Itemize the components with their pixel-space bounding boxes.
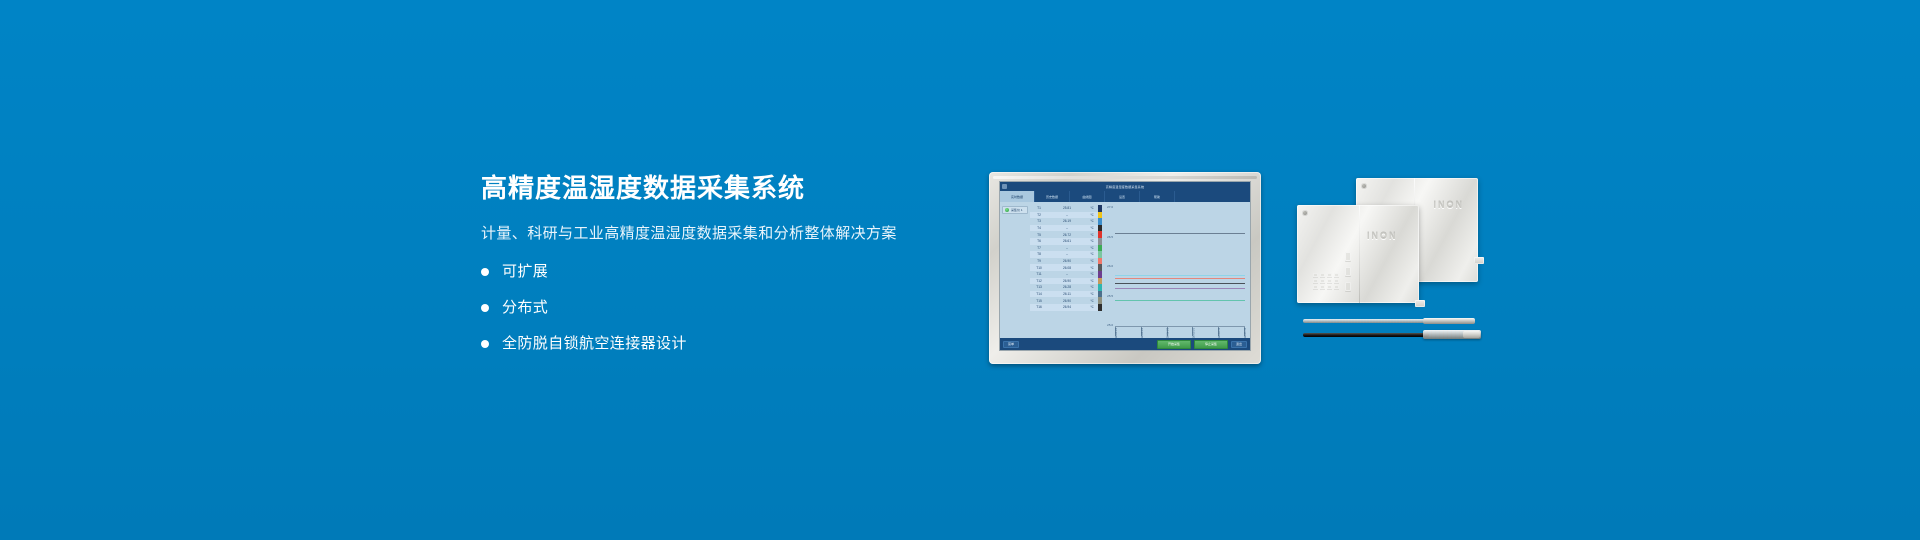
channel-table[interactable]: T125.81℃T2--℃T326.19℃T4--℃T526.72℃T626.6… xyxy=(1030,202,1102,338)
channel-name: T2 xyxy=(1030,213,1048,217)
channel-color-swatch xyxy=(1098,271,1102,278)
channel-color-swatch xyxy=(1098,264,1102,271)
temperature-probe xyxy=(1303,318,1473,324)
channel-value: -- xyxy=(1048,246,1086,250)
channel-color-swatch xyxy=(1098,231,1102,238)
channel-name: T1 xyxy=(1030,206,1048,210)
table-row[interactable]: T4--℃ xyxy=(1030,225,1102,232)
window-title: 高精度温湿度数据采集系统 xyxy=(1106,185,1144,189)
channel-value: 26.61 xyxy=(1048,239,1086,243)
channel-name: T16 xyxy=(1030,305,1048,309)
channel-value: 26.08 xyxy=(1048,266,1086,270)
chart-y-axis: 27.026.526.025.525.0 xyxy=(1103,205,1114,327)
channel-color-swatch xyxy=(1098,304,1102,311)
tab-realtime[interactable]: 实时数据 xyxy=(1000,191,1035,202)
channel-value: 26.94 xyxy=(1048,305,1086,309)
screw-hole-icon xyxy=(1302,210,1308,216)
chart-trace xyxy=(1115,233,1245,234)
table-row[interactable]: T1026.08℃ xyxy=(1030,264,1102,271)
channel-value: 26.90 xyxy=(1048,259,1086,263)
channel-name: T9 xyxy=(1030,259,1048,263)
stop-acquisition-button[interactable]: 停止采集 xyxy=(1194,340,1228,349)
channel-unit: ℃ xyxy=(1086,226,1098,230)
panel-pc-product-image: 高精度温湿度数据采集系统 实时数据 历史数据 曲线图 设置 帮助 采集仪 1 xyxy=(989,172,1261,364)
panel-seam xyxy=(1359,205,1360,303)
table-row[interactable]: T926.90℃ xyxy=(1030,258,1102,265)
acquisition-module-front: INON xyxy=(1297,205,1419,303)
bullet-dot-icon xyxy=(481,304,489,312)
channel-unit: ℃ xyxy=(1086,279,1098,283)
channel-value: 26.72 xyxy=(1048,233,1086,237)
channel-name: T10 xyxy=(1030,266,1048,270)
channel-name: T7 xyxy=(1030,246,1048,250)
trend-chart: 27.026.526.025.525.0 10:20:0010:30:0010:… xyxy=(1103,205,1247,338)
table-row[interactable]: T326.19℃ xyxy=(1030,218,1102,225)
tab-bar: 实时数据 历史数据 曲线图 设置 帮助 xyxy=(1000,191,1250,202)
chart-x-axis: 10:20:0010:30:0010:40:0010:50:0011:00:00… xyxy=(1115,327,1245,338)
device-label: 采集仪 1 xyxy=(1011,208,1023,212)
channel-color-swatch xyxy=(1098,212,1102,219)
daq-software-screen: 高精度温湿度数据采集系统 实时数据 历史数据 曲线图 设置 帮助 采集仪 1 xyxy=(999,181,1251,351)
channel-color-swatch xyxy=(1098,284,1102,291)
list-item: 分布式 xyxy=(481,299,911,317)
table-row[interactable]: T1226.90℃ xyxy=(1030,278,1102,285)
x-axis-tick: 10:20:00 xyxy=(1115,327,1116,336)
bullet-dot-icon xyxy=(481,340,489,348)
channel-color-swatch xyxy=(1098,258,1102,265)
product-banner: 高精度温湿度数据采集系统 计量、科研与工业高精度温湿度数据采集和分析整体解决方案… xyxy=(0,0,1920,540)
table-row[interactable]: T8--℃ xyxy=(1030,251,1102,258)
channel-value: -- xyxy=(1048,213,1086,217)
brand-logo: INON xyxy=(1434,200,1465,210)
chart-trace xyxy=(1115,300,1245,301)
channel-color-swatch xyxy=(1098,297,1102,304)
channel-color-swatch xyxy=(1098,291,1102,298)
channel-unit: ℃ xyxy=(1086,219,1098,223)
back-arrow-icon[interactable] xyxy=(1002,184,1007,189)
channel-value: 26.90 xyxy=(1048,299,1086,303)
table-row[interactable]: T125.81℃ xyxy=(1030,205,1102,212)
table-row[interactable]: T7--℃ xyxy=(1030,245,1102,252)
table-row[interactable]: T1326.28℃ xyxy=(1030,284,1102,291)
channel-color-swatch xyxy=(1098,205,1102,212)
feature-label: 可扩展 xyxy=(502,263,548,281)
tab-settings[interactable]: 设置 xyxy=(1105,191,1140,202)
cable-wire xyxy=(1303,333,1429,337)
x-axis-tick: 11:00:00 xyxy=(1218,327,1219,336)
copy-block: 高精度温湿度数据采集系统 计量、科研与工业高精度温湿度数据采集和分析整体解决方案… xyxy=(481,174,911,353)
channel-value: 26.19 xyxy=(1048,219,1086,223)
footer-toolbar: 菜单 开始采集 停止采集 退出 xyxy=(1000,338,1250,350)
channel-unit: ℃ xyxy=(1086,305,1098,309)
channel-unit: ℃ xyxy=(1086,239,1098,243)
device-tree-panel: 采集仪 1 xyxy=(1000,202,1030,338)
chart-trace xyxy=(1115,278,1245,279)
probe-shaft xyxy=(1303,319,1427,323)
y-axis-tick: 27.0 xyxy=(1107,205,1113,209)
channel-color-swatch xyxy=(1098,245,1102,252)
channel-color-swatch xyxy=(1098,251,1102,258)
aviation-connector-cable xyxy=(1303,330,1478,339)
page-title: 高精度温湿度数据采集系统 xyxy=(481,174,911,204)
channel-unit: ℃ xyxy=(1086,299,1098,303)
channel-unit: ℃ xyxy=(1086,206,1098,210)
mounting-tab xyxy=(1474,257,1484,264)
channel-name: T8 xyxy=(1030,252,1048,256)
connector-tip xyxy=(1463,331,1480,338)
chart-trace xyxy=(1115,283,1245,284)
brand-logo: INON xyxy=(1367,231,1398,241)
tab-history[interactable]: 历史数据 xyxy=(1035,191,1070,202)
y-axis-tick: 25.5 xyxy=(1107,294,1113,298)
channel-name: T4 xyxy=(1030,226,1048,230)
feature-label: 分布式 xyxy=(502,299,548,317)
table-row[interactable]: T2--℃ xyxy=(1030,212,1102,219)
table-row[interactable]: T1426.11℃ xyxy=(1030,291,1102,298)
channel-color-swatch xyxy=(1098,225,1102,232)
channel-value: -- xyxy=(1048,272,1086,276)
channel-unit: ℃ xyxy=(1086,233,1098,237)
channel-color-swatch xyxy=(1098,238,1102,245)
channel-name: T15 xyxy=(1030,299,1048,303)
page-subtitle: 计量、科研与工业高精度温湿度数据采集和分析整体解决方案 xyxy=(481,224,911,244)
status-led-icon xyxy=(1005,208,1009,212)
y-axis-tick: 25.0 xyxy=(1107,323,1113,327)
x-axis-tick: 10:50:00 xyxy=(1192,327,1193,336)
channel-unit: ℃ xyxy=(1086,292,1098,296)
label-grid xyxy=(1313,273,1339,289)
channel-value: -- xyxy=(1048,252,1086,256)
feature-label: 全防脱自锁航空连接器设计 xyxy=(502,335,687,353)
y-axis-tick: 26.0 xyxy=(1107,264,1113,268)
channel-color-swatch xyxy=(1098,218,1102,225)
screw-hole-icon xyxy=(1361,183,1367,189)
software-body: 采集仪 1 T125.81℃T2--℃T326.19℃T4--℃T526.72℃… xyxy=(1000,202,1250,338)
device-tree-item[interactable]: 采集仪 1 xyxy=(1002,206,1028,214)
menu-button[interactable]: 菜单 xyxy=(1003,341,1019,348)
probe-head xyxy=(1423,318,1475,324)
exit-button[interactable]: 退出 xyxy=(1231,341,1247,348)
channel-name: T13 xyxy=(1030,285,1048,289)
window-title-bar: 高精度温湿度数据采集系统 xyxy=(1000,182,1250,191)
start-acquisition-button[interactable]: 开始采集 xyxy=(1157,340,1191,349)
chart-trace xyxy=(1115,288,1245,289)
list-item: 全防脱自锁航空连接器设计 xyxy=(481,335,911,353)
channel-unit: ℃ xyxy=(1086,285,1098,289)
channel-name: T3 xyxy=(1030,219,1048,223)
channel-value: 26.11 xyxy=(1048,292,1086,296)
channel-name: T6 xyxy=(1030,239,1048,243)
channel-value: -- xyxy=(1048,226,1086,230)
table-row[interactable]: T526.72℃ xyxy=(1030,231,1102,238)
channel-unit: ℃ xyxy=(1086,252,1098,256)
channel-color-swatch xyxy=(1098,278,1102,285)
channel-value: 26.90 xyxy=(1048,279,1086,283)
feature-list: 可扩展 分布式 全防脱自锁航空连接器设计 xyxy=(481,263,911,353)
table-row[interactable]: T1526.90℃ xyxy=(1030,297,1102,304)
table-row[interactable]: T1626.94℃ xyxy=(1030,304,1102,311)
tab-help[interactable]: 帮助 xyxy=(1140,191,1175,202)
channel-value: 25.81 xyxy=(1048,206,1086,210)
channel-unit: ℃ xyxy=(1086,272,1098,276)
monitor-bezel: 高精度温湿度数据采集系统 实时数据 历史数据 曲线图 设置 帮助 采集仪 1 xyxy=(989,172,1261,364)
x-axis-tick: 11:10:00 xyxy=(1244,327,1245,336)
x-axis-tick: 10:30:00 xyxy=(1141,327,1142,336)
channel-name: T11 xyxy=(1030,272,1048,276)
channel-unit: ℃ xyxy=(1086,259,1098,263)
table-row[interactable]: T626.61℃ xyxy=(1030,238,1102,245)
channel-name: T14 xyxy=(1030,292,1048,296)
x-axis-tick: 10:40:00 xyxy=(1167,327,1168,336)
mounting-tab xyxy=(1415,300,1425,307)
channel-value: 26.28 xyxy=(1048,285,1086,289)
chart-trace xyxy=(1115,275,1245,276)
y-axis-tick: 26.5 xyxy=(1107,235,1113,239)
channel-unit: ℃ xyxy=(1086,213,1098,217)
channel-name: T5 xyxy=(1030,233,1048,237)
connector-ports xyxy=(1345,252,1351,291)
list-item: 可扩展 xyxy=(481,263,911,281)
channel-unit: ℃ xyxy=(1086,266,1098,270)
channel-name: T12 xyxy=(1030,279,1048,283)
table-row[interactable]: T11--℃ xyxy=(1030,271,1102,278)
tab-curve[interactable]: 曲线图 xyxy=(1070,191,1105,202)
chart-plot-area xyxy=(1115,207,1245,327)
bullet-dot-icon xyxy=(481,268,489,276)
channel-unit: ℃ xyxy=(1086,246,1098,250)
